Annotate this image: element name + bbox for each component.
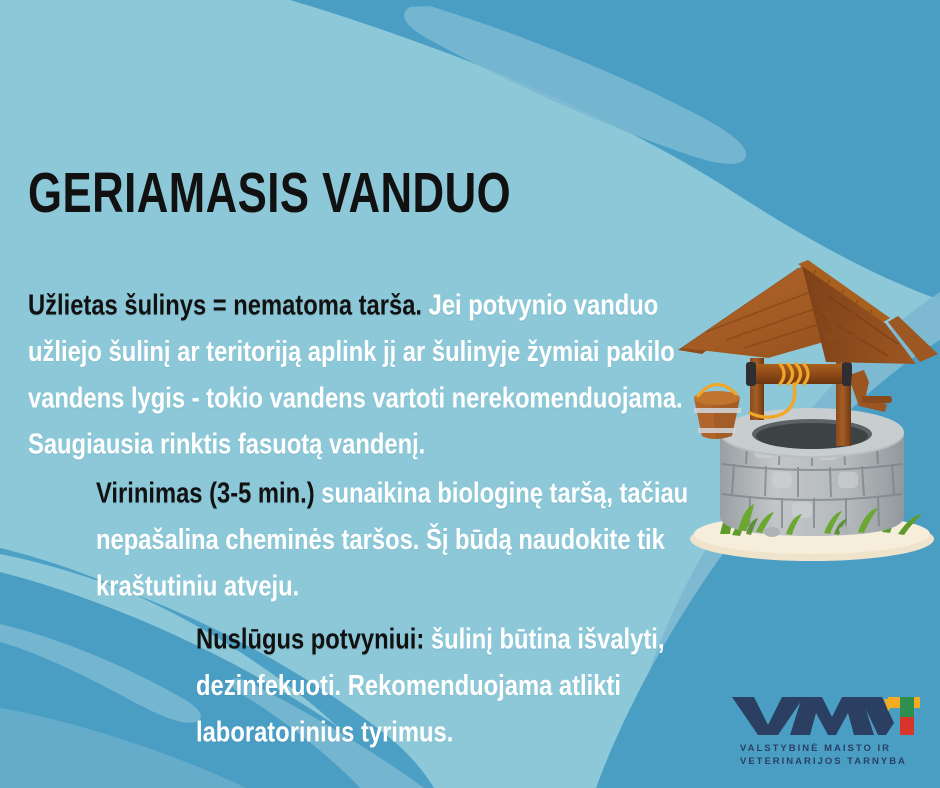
vmv-logo-subtitle: VALSTYBINĖ MAISTO IR VETERINARIJOS TARNY… (728, 742, 924, 768)
page-title: GERIAMASIS VANDUO (28, 164, 511, 220)
paragraph-3-lead: Nuslūgus potvyniui: (196, 624, 424, 656)
vmv-logo-subtitle-line2: VETERINARIJOS TARNYBA (740, 755, 924, 768)
paragraph-1-lead: Užlietas šulinys = nematoma tarša. (28, 290, 422, 322)
paragraph-boiling: Virinimas (3-5 min.) sunaikina biologinę… (96, 471, 704, 610)
vmv-logo-subtitle-line1: VALSTYBINĖ MAISTO IR (740, 742, 924, 755)
vmv-logo: VALSTYBINĖ MAISTO IR VETERINARIJOS TARNY… (728, 691, 924, 768)
stone-well-illustration (676, 258, 940, 568)
paragraph-2-lead: Virinimas (3-5 min.) (96, 478, 315, 510)
paragraph-well-contamination: Užlietas šulinys = nematoma tarša. Jei p… (28, 283, 684, 468)
vmv-logo-mark (728, 691, 924, 737)
paragraph-after-flood: Nuslūgus potvyniui: šulinį būtina išvaly… (196, 617, 747, 756)
poster-canvas: GERIAMASIS VANDUO Užlietas šulinys = nem… (0, 0, 940, 788)
